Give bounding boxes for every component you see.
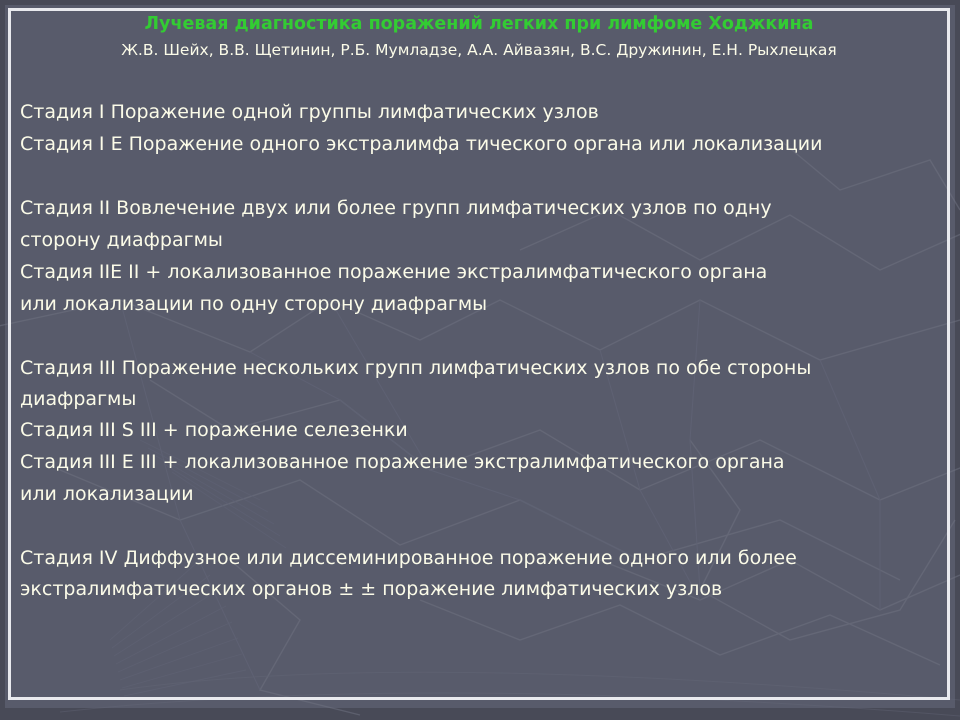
slide-canvas: Лучевая диагностика поражений легких при… <box>0 0 960 720</box>
text-line: экстралимфатических органов ± ± поражени… <box>20 574 930 604</box>
text-line: Стадия II Вовлечение двух или более груп… <box>20 192 930 224</box>
stage-block-stage-2: Стадия II Вовлечение двух или более груп… <box>20 192 930 320</box>
block-spacer <box>20 320 930 352</box>
text-line: сторону диафрагмы <box>20 224 930 256</box>
page-title: Лучевая диагностика поражений легких при… <box>12 12 946 36</box>
text-line: Стадия IV Диффузное или диссеминированно… <box>20 542 930 574</box>
text-line: Стадия IIE II + локализованное поражение… <box>20 256 930 288</box>
text-line: или локализации по одну сторону диафрагм… <box>20 288 930 320</box>
text-line: Стадия I Поражение одной группы лимфатич… <box>20 96 930 128</box>
slide-body: Стадия I Поражение одной группы лимфатич… <box>20 96 930 604</box>
block-spacer <box>20 160 930 192</box>
stage-block-stage-4: Стадия IV Диффузное или диссеминированно… <box>20 542 930 604</box>
stage-block-stage-1: Стадия I Поражение одной группы лимфатич… <box>20 96 930 160</box>
slide-header: Лучевая диагностика поражений легких при… <box>12 12 946 62</box>
block-spacer <box>20 510 930 542</box>
text-line: или локализации <box>20 478 930 510</box>
text-line: Стадия III Поражение нескольких групп ли… <box>20 352 930 384</box>
text-line: Стадия III E III + локализованное пораже… <box>20 446 930 478</box>
text-line: диафрагмы <box>20 384 930 414</box>
stage-block-stage-3: Стадия III Поражение нескольких групп ли… <box>20 352 930 510</box>
author-list: Ж.В. Шейх, В.В. Щетинин, Р.Б. Мумладзе, … <box>12 38 946 62</box>
text-line: Стадия III S III + поражение селезенки <box>20 414 930 446</box>
text-line: Стадия I E Поражение одного экстралимфа … <box>20 128 930 160</box>
